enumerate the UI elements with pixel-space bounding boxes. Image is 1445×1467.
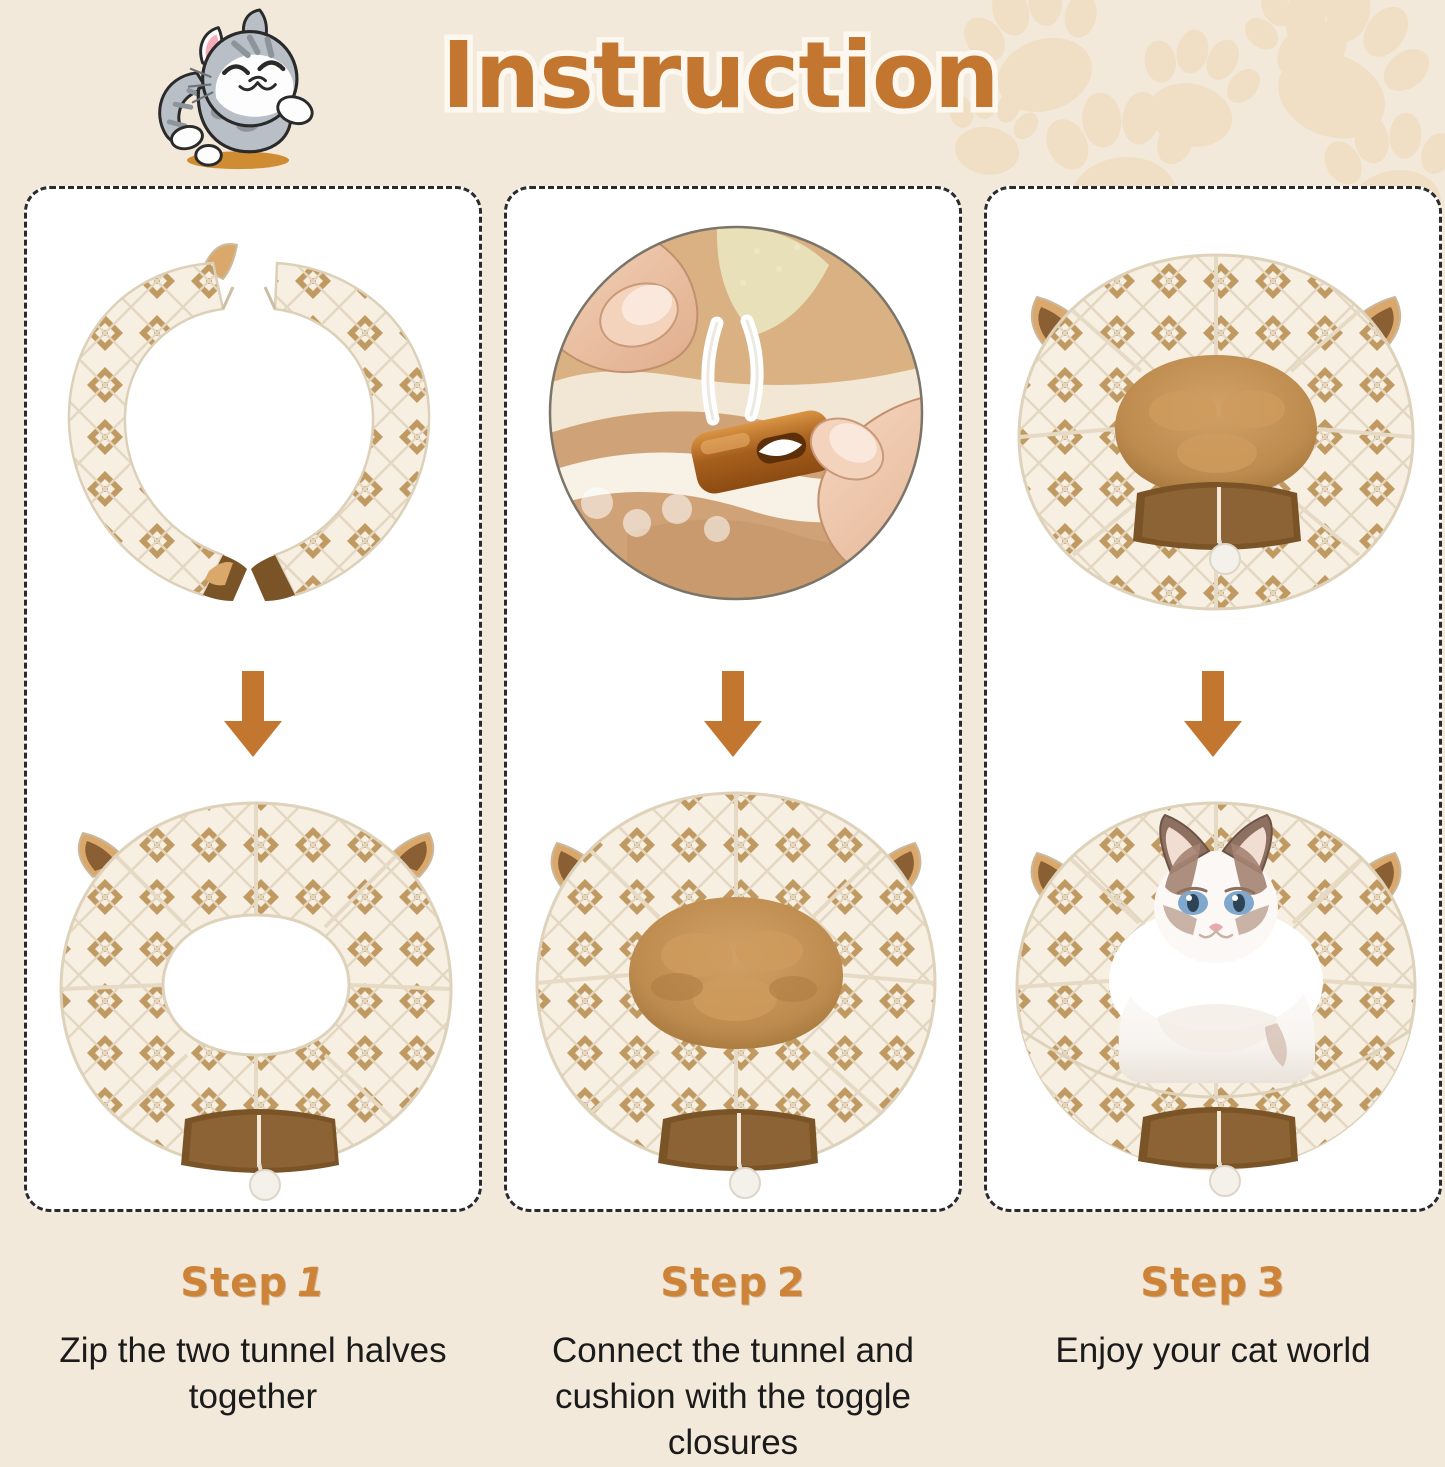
arrow-down-icon	[698, 669, 768, 759]
step-2-label-text: Step	[660, 1260, 768, 1306]
arrow-down-icon	[1178, 669, 1248, 759]
step-1-label-text: Step	[180, 1260, 288, 1306]
step-panel-1	[24, 186, 482, 1212]
step-2-description: Connect the tunnel and cushion with the …	[504, 1328, 962, 1467]
step-3-description: Enjoy your cat world	[984, 1328, 1442, 1374]
step-1-number: 1	[288, 1260, 326, 1306]
step-1-description: Zip the two tunnel halves together	[24, 1328, 482, 1420]
step-1-label: Step1	[24, 1260, 482, 1306]
step-3-number: 3	[1248, 1260, 1286, 1306]
step-3-arrow	[987, 657, 1439, 769]
instruction-panels	[0, 186, 1445, 1216]
step-2-bottom-image	[507, 767, 959, 1207]
step-1-bottom-image	[27, 767, 479, 1207]
step-3-label-text: Step	[1140, 1260, 1248, 1306]
step-3-top-image	[987, 203, 1439, 653]
step-3-bottom-image	[987, 767, 1439, 1207]
page-title: Instruction	[400, 28, 1040, 125]
caption-step-3: Step3 Enjoy your cat world	[984, 1222, 1442, 1445]
caption-step-1: Step1 Zip the two tunnel halves together	[24, 1222, 482, 1445]
step-captions: Step1 Zip the two tunnel halves together…	[0, 1222, 1445, 1445]
jumping-cat-icon	[138, 8, 338, 173]
step-2-arrow	[507, 657, 959, 769]
page-header: Instruction	[0, 0, 1445, 178]
caption-step-2: Step2 Connect the tunnel and cushion wit…	[504, 1222, 962, 1445]
arrow-down-icon	[218, 669, 288, 759]
step-3-label: Step3	[984, 1260, 1442, 1306]
step-2-number: 2	[768, 1260, 806, 1306]
step-panel-3	[984, 186, 1442, 1212]
step-1-arrow	[27, 657, 479, 769]
step-1-top-image	[27, 203, 479, 653]
step-2-top-image	[507, 203, 959, 653]
step-panel-2	[504, 186, 962, 1212]
step-2-label: Step2	[504, 1260, 962, 1306]
